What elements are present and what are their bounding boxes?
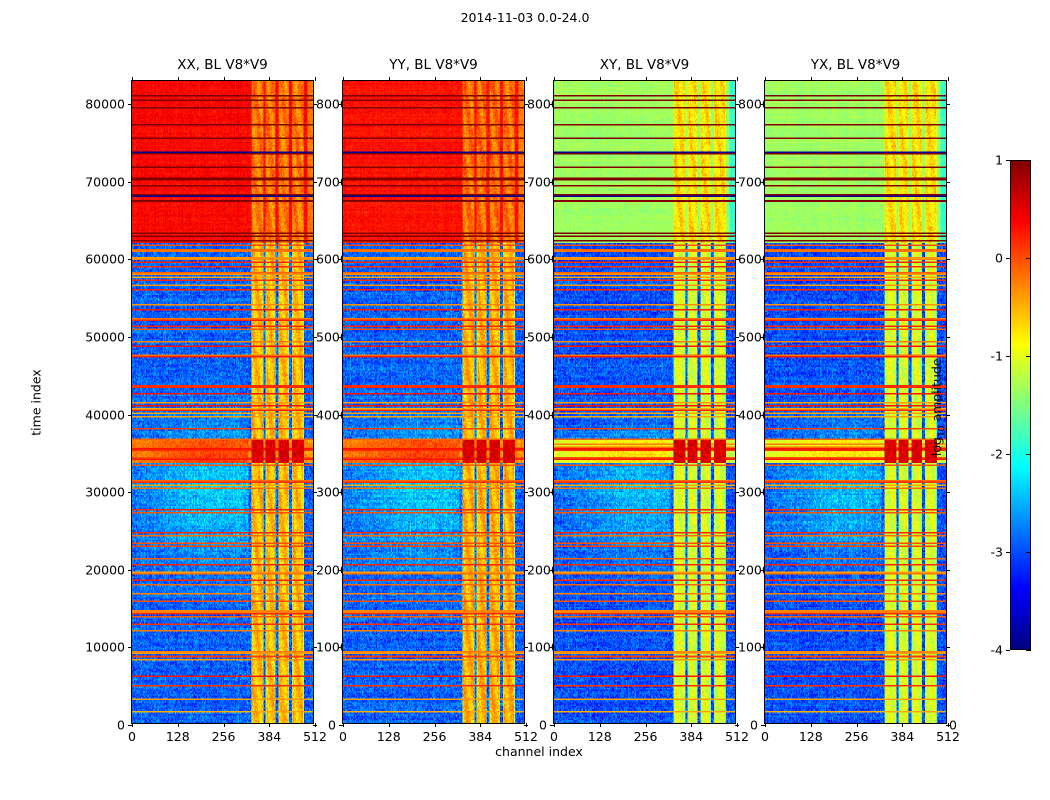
x-tick-label: 128 xyxy=(799,729,823,744)
y-tick-mark-right xyxy=(946,182,950,183)
x-tick-label: 0 xyxy=(550,729,558,744)
x-tick-label: 128 xyxy=(166,729,190,744)
y-tick-mark xyxy=(550,415,554,416)
y-tick-mark xyxy=(128,182,132,183)
y-tick-mark xyxy=(128,492,132,493)
colorbar-tick-mark-inner xyxy=(1026,160,1031,161)
x-tick-mark xyxy=(902,723,903,727)
colorbar-tick-label: -4 xyxy=(991,643,1003,658)
x-tick-mark-top xyxy=(178,77,179,81)
y-tick-mark xyxy=(761,182,765,183)
x-tick-mark xyxy=(811,723,812,727)
x-tick-mark xyxy=(178,723,179,727)
x-tick-mark-top xyxy=(646,77,647,81)
x-tick-mark-top xyxy=(480,77,481,81)
x-tick-mark xyxy=(737,723,738,727)
y-tick-mark xyxy=(128,259,132,260)
y-tick-mark xyxy=(128,570,132,571)
colorbar-tick-mark xyxy=(1006,258,1010,259)
x-tick-mark-top xyxy=(948,77,949,81)
colorbar-tick-mark xyxy=(1006,356,1010,357)
y-tick-mark xyxy=(761,492,765,493)
y-tick-mark xyxy=(550,570,554,571)
x-tick-mark-top xyxy=(857,77,858,81)
panel-title-yx: YX, BL V8*V9 xyxy=(725,57,986,73)
x-tick-mark-top xyxy=(902,77,903,81)
y-tick-mark xyxy=(339,492,343,493)
x-tick-label: 128 xyxy=(588,729,612,744)
x-tick-mark xyxy=(224,723,225,727)
colorbar-tick-label: 0 xyxy=(995,251,1003,266)
figure-suptitle: 2014-11-03 0.0-24.0 xyxy=(0,10,1050,25)
x-tick-label: 512 xyxy=(303,729,327,744)
x-tick-mark-top xyxy=(269,77,270,81)
y-tick-mark xyxy=(339,259,343,260)
y-tick-mark xyxy=(339,337,343,338)
x-tick-label: 0 xyxy=(339,729,347,744)
x-tick-mark-top xyxy=(315,77,316,81)
y-tick-mark xyxy=(761,415,765,416)
x-tick-mark xyxy=(554,723,555,727)
x-tick-mark-top xyxy=(600,77,601,81)
colorbar-tick-label: -3 xyxy=(991,545,1003,560)
y-tick-mark xyxy=(550,647,554,648)
y-tick-mark xyxy=(761,259,765,260)
x-tick-label: 384 xyxy=(679,729,703,744)
x-tick-label: 384 xyxy=(890,729,914,744)
y-tick-label: 10000 xyxy=(85,640,125,655)
x-tick-mark xyxy=(315,723,316,727)
y-tick-mark xyxy=(339,647,343,648)
x-tick-mark-top xyxy=(765,77,766,81)
x-tick-mark xyxy=(343,723,344,727)
x-tick-mark-top xyxy=(435,77,436,81)
x-tick-mark xyxy=(691,723,692,727)
x-tick-mark-top xyxy=(811,77,812,81)
y-tick-mark xyxy=(339,570,343,571)
y-tick-mark-right xyxy=(946,104,950,105)
y-tick-mark xyxy=(761,570,765,571)
x-tick-mark xyxy=(600,723,601,727)
colorbar-title-rest: amplitude xyxy=(929,358,944,425)
x-tick-mark-top xyxy=(526,77,527,81)
x-tick-mark xyxy=(435,723,436,727)
x-tick-label: 256 xyxy=(845,729,869,744)
x-tick-label: 256 xyxy=(212,729,236,744)
x-tick-mark xyxy=(480,723,481,727)
colorbar-tick-mark xyxy=(1006,160,1010,161)
y-tick-mark-right xyxy=(946,492,950,493)
x-tick-label: 0 xyxy=(128,729,136,744)
x-tick-label: 512 xyxy=(514,729,538,744)
x-tick-mark xyxy=(526,723,527,727)
panel-yy[interactable]: YY, BL V8*V9 100002000030000400005000060… xyxy=(342,80,525,724)
colorbar-tick-label: -2 xyxy=(991,447,1003,462)
x-tick-mark-top xyxy=(389,77,390,81)
x-tick-label: 512 xyxy=(936,729,960,744)
colorbar-tick-mark-inner xyxy=(1026,258,1031,259)
y-tick-mark xyxy=(339,104,343,105)
y-tick-mark-right xyxy=(946,259,950,260)
y-tick-mark-right xyxy=(946,647,950,648)
colorbar-title: log10 amplitude xyxy=(929,347,948,467)
y-tick-label: 80000 xyxy=(85,97,125,112)
figure-canvas: 2014-11-03 0.0-24.0 XX, BL V8*V9 0100001… xyxy=(0,0,1050,800)
x-tick-mark-top xyxy=(224,77,225,81)
panel-xy[interactable]: XY, BL V8*V9 100002000030000400005000060… xyxy=(553,80,736,724)
y-tick-mark xyxy=(761,337,765,338)
y-tick-label: 70000 xyxy=(85,174,125,189)
colorbar-tick-mark xyxy=(1006,650,1010,651)
y-tick-label: 20000 xyxy=(85,562,125,577)
y-tick-mark xyxy=(128,104,132,105)
x-tick-label: 384 xyxy=(257,729,281,744)
colorbar-tick-mark xyxy=(1006,454,1010,455)
y-tick-label: 40000 xyxy=(85,407,125,422)
x-tick-mark-top xyxy=(554,77,555,81)
y-tick-mark-right xyxy=(946,570,950,571)
y-tick-label: 60000 xyxy=(85,252,125,267)
x-tick-mark xyxy=(948,723,949,727)
y-tick-label: 0 xyxy=(328,718,336,733)
colorbar-tick-label: 1 xyxy=(995,153,1003,168)
x-tick-mark xyxy=(857,723,858,727)
y-tick-mark xyxy=(761,104,765,105)
panel-yx[interactable]: YX, BL V8*V9 000128256384512 xyxy=(764,80,947,724)
y-tick-mark xyxy=(550,492,554,493)
y-tick-label: 0 xyxy=(117,718,125,733)
x-tick-mark-top xyxy=(343,77,344,81)
colorbar-tick-mark-inner xyxy=(1026,454,1031,455)
y-tick-mark xyxy=(550,259,554,260)
colorbar-title-sub: 10 xyxy=(937,426,947,437)
y-tick-mark xyxy=(128,647,132,648)
y-tick-mark-right xyxy=(946,337,950,338)
x-tick-mark xyxy=(132,723,133,727)
colorbar-tick-mark-inner xyxy=(1026,356,1031,357)
y-tick-mark xyxy=(761,647,765,648)
x-axis-label: channel index xyxy=(439,744,639,759)
y-tick-mark xyxy=(339,415,343,416)
colorbar-tick-mark-inner xyxy=(1026,552,1031,553)
x-tick-label: 128 xyxy=(377,729,401,744)
x-tick-mark-top xyxy=(691,77,692,81)
x-tick-mark xyxy=(269,723,270,727)
x-tick-mark xyxy=(765,723,766,727)
x-tick-label: 256 xyxy=(423,729,447,744)
y-tick-mark xyxy=(550,104,554,105)
panel-xx[interactable]: XX, BL V8*V9 010000100002000020000300003… xyxy=(131,80,314,724)
y-tick-mark xyxy=(339,182,343,183)
colorbar-tick-mark xyxy=(1006,552,1010,553)
y-tick-mark xyxy=(550,337,554,338)
x-tick-mark-top xyxy=(132,77,133,81)
x-tick-label: 512 xyxy=(725,729,749,744)
x-tick-mark xyxy=(389,723,390,727)
y-tick-label: 0 xyxy=(750,718,758,733)
x-tick-mark-top xyxy=(737,77,738,81)
y-tick-mark xyxy=(550,182,554,183)
y-tick-label: 50000 xyxy=(85,330,125,345)
x-tick-mark xyxy=(646,723,647,727)
y-tick-label: 30000 xyxy=(85,485,125,500)
colorbar-tick-mark-inner xyxy=(1026,650,1031,651)
y-tick-mark xyxy=(128,337,132,338)
y-tick-mark xyxy=(128,415,132,416)
colorbar-tick-label: -1 xyxy=(991,349,1003,364)
y-tick-label: 0 xyxy=(539,718,547,733)
x-tick-label: 256 xyxy=(634,729,658,744)
x-tick-label: 384 xyxy=(468,729,492,744)
x-tick-label: 0 xyxy=(761,729,769,744)
colorbar-title-text: log xyxy=(929,437,944,456)
y-axis-label: time index xyxy=(29,363,44,443)
colorbar[interactable]: 10-1-2-3-4 xyxy=(1010,160,1031,650)
